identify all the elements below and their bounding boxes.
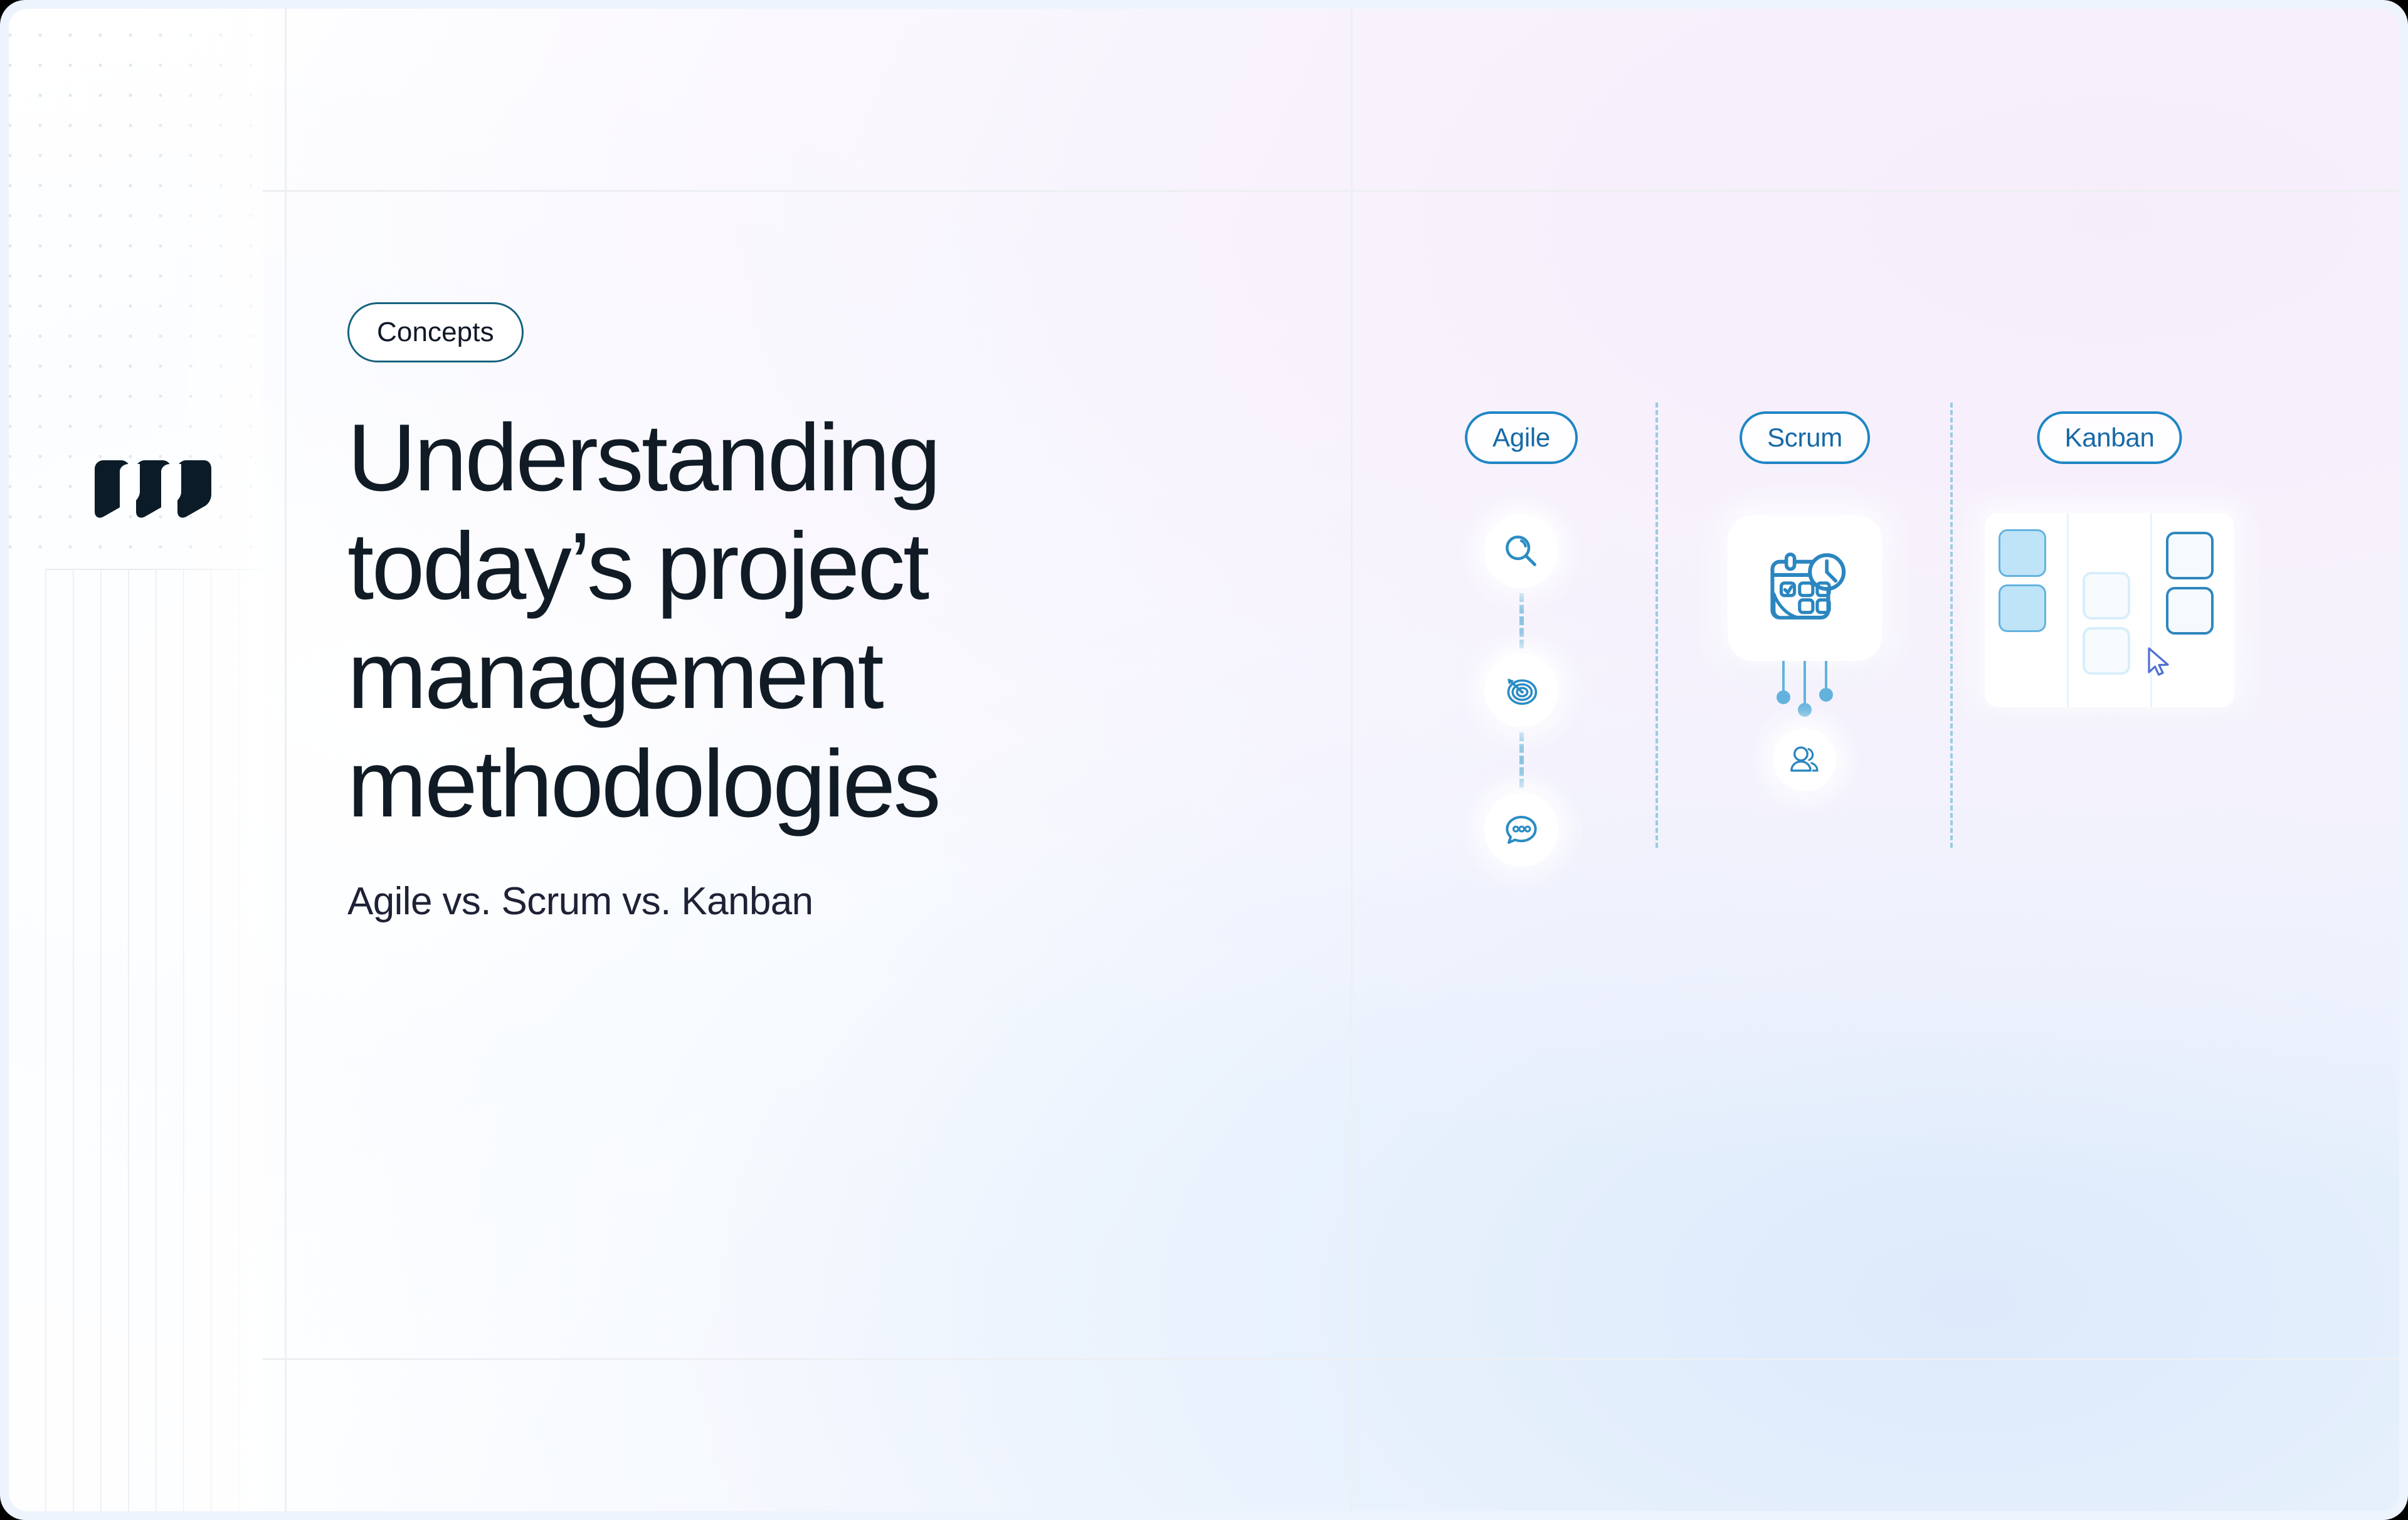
target-icon-badge [1484, 653, 1558, 727]
column-divider-2 [1950, 403, 1953, 848]
column-divider-1 [1655, 403, 1658, 848]
agile-icon-column [1484, 514, 1558, 867]
divider-vertical-left [285, 9, 287, 1511]
kanban-card[interactable] [2083, 572, 2130, 620]
kanban-card[interactable] [1999, 584, 2046, 632]
slide-canvas: Concepts Understanding today’s project m… [9, 9, 2399, 1511]
vertical-lines-pattern [45, 569, 263, 1511]
monday-logo [92, 455, 214, 523]
kanban-card[interactable] [1999, 529, 2046, 577]
target-icon [1501, 670, 1542, 711]
pill-agile[interactable]: Agile [1465, 411, 1578, 464]
outer-frame: Concepts Understanding today’s project m… [0, 0, 2408, 1520]
eyebrow-badge-concepts[interactable]: Concepts [347, 302, 524, 362]
kanban-card[interactable] [2166, 587, 2214, 635]
chat-icon [1501, 810, 1541, 850]
team-icon [1787, 742, 1823, 778]
team-icon-badge [1773, 729, 1836, 791]
page-title: Understanding today’s project management… [347, 404, 1181, 838]
cursor-icon [2147, 647, 2175, 682]
kanban-card[interactable] [2166, 532, 2214, 579]
kanban-column-2[interactable] [2067, 513, 2151, 707]
kanban-column-1[interactable] [1985, 513, 2067, 707]
search-icon-badge [1484, 514, 1558, 588]
search-icon [1501, 531, 1541, 571]
chat-icon-badge [1484, 793, 1558, 867]
agile-connector-2 [1519, 732, 1524, 788]
pill-scrum[interactable]: Scrum [1740, 411, 1870, 464]
scrum-connector-pins [1767, 661, 1842, 730]
page-subtitle: Agile vs. Scrum vs. Kanban [347, 879, 1238, 925]
pill-kanban[interactable]: Kanban [2037, 411, 2182, 464]
methodologies-illustration: Agile Scrum Kanban [1363, 191, 2399, 1363]
calendar-clock-icon [1758, 541, 1852, 635]
decorative-left-strip [9, 9, 263, 1511]
agile-connector-1 [1519, 593, 1524, 648]
divider-vertical-middle [1351, 9, 1353, 1511]
left-content: Concepts Understanding today’s project m… [347, 302, 1238, 925]
calendar-clock-card [1728, 515, 1882, 661]
kanban-card[interactable] [2083, 627, 2130, 675]
kanban-board[interactable] [1985, 513, 2234, 707]
